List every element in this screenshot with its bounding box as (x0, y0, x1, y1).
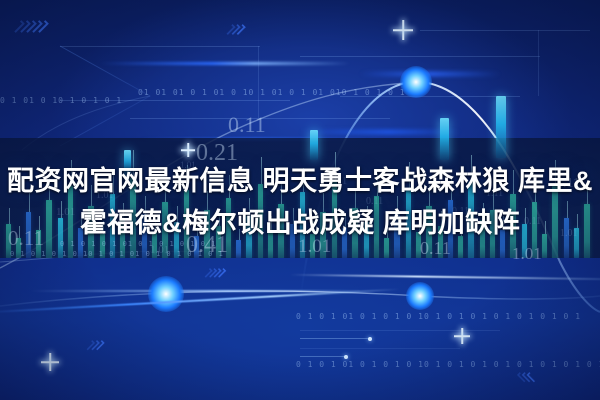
chevron-arrow-icon (206, 268, 223, 278)
highlight-bar (440, 118, 449, 160)
binary-strip: 01 01 01 0 1 01 0 10 1 01 0 1 01 010 1 0… (138, 88, 406, 97)
headline: 配资网官网最新信息 明天勇士客战森林狼 库里& 霍福德&梅尔顿出战成疑 库明加缺… (0, 160, 600, 244)
glow-node (400, 66, 432, 98)
highlight-bar (310, 130, 318, 160)
stock-news-banner: 0.110.210.110.411.010.111.011.111.011.01… (0, 0, 600, 400)
glow-node (406, 282, 434, 310)
headline-line-1: 配资网官网最新信息 明天勇士客战森林狼 库里& (7, 166, 593, 196)
chevron-arrow-icon (228, 24, 242, 35)
chevron-arrow-icon (16, 20, 45, 33)
binary-strip: 0 1 0 1 01 0 1 0 1 0 10 1 0 1 0 1 0 1 0 … (296, 360, 600, 369)
chevron-arrow-icon (520, 372, 534, 382)
headline-line-2: 霍福德&梅尔顿出战成疑 库明加缺阵 (6, 202, 594, 244)
price-number: 0.11 (228, 112, 266, 138)
binary-strip: 0 1 01 0 10 1 0 1 0 1 (0, 96, 122, 105)
highlight-bar (496, 96, 506, 158)
price-number: 1.01 (512, 244, 542, 264)
chevron-arrow-icon (88, 340, 102, 350)
binary-strip: 0 1 0 1 01 0 1 0 1 0 10 1 0 1 0 1 0 1 0 … (296, 312, 581, 321)
binary-strip: 0 1 0 1 0 1 0 10 1 0 1 01 0 1 0 1 0 1 0 … (10, 250, 224, 258)
glow-node (148, 276, 184, 312)
connector-dot-line (300, 338, 370, 339)
connector-dot-line (300, 356, 346, 357)
